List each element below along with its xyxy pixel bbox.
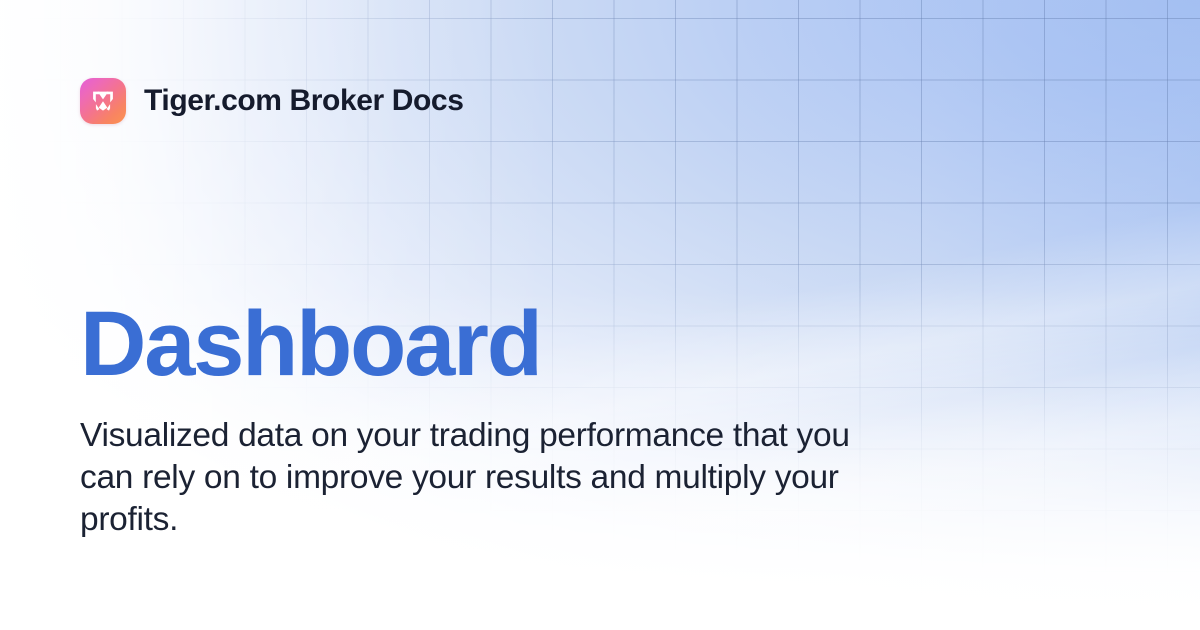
tiger-head-logo-icon [80,78,126,124]
page-content: Tiger.com Broker Docs Dashboard Visualiz… [0,0,1200,630]
hero-section: Dashboard Visualized data on your tradin… [80,296,960,541]
page-title: Dashboard [80,296,960,392]
brand-name-label: Tiger.com Broker Docs [144,84,464,118]
brand-header[interactable]: Tiger.com Broker Docs [80,78,464,124]
page-subtitle: Visualized data on your trading performa… [80,415,855,541]
